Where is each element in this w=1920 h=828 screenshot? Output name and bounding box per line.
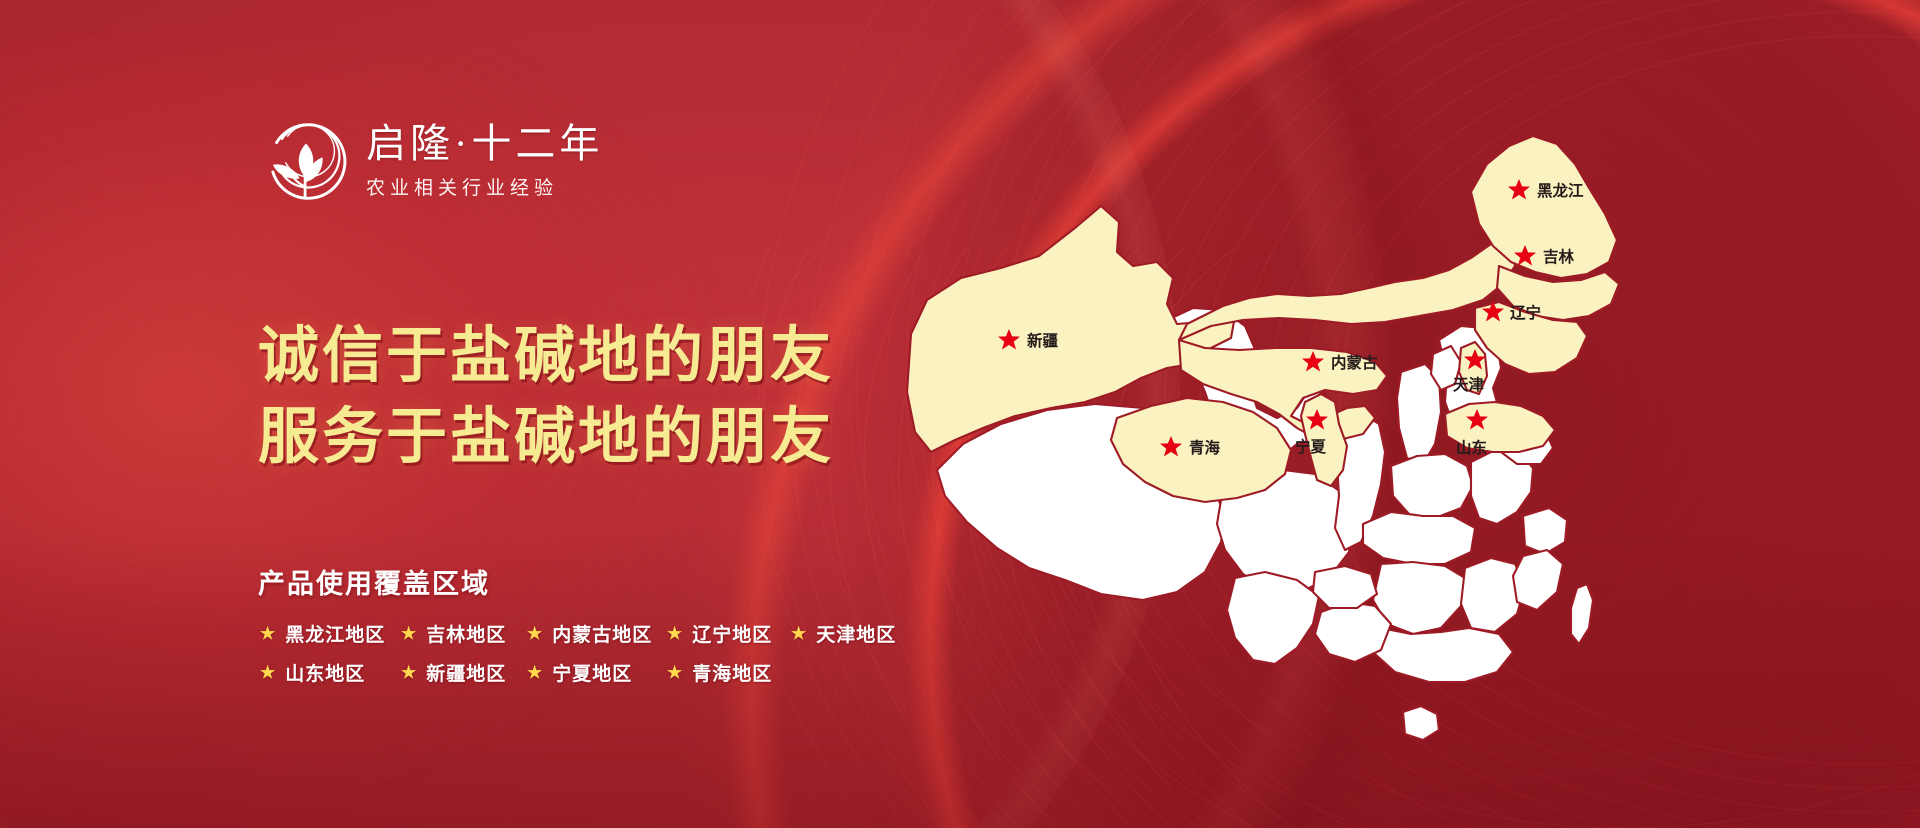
star-icon: ★ [401,664,417,681]
star-icon: ★ [527,625,543,642]
coverage-region-row: ★ 黑龙江地区 ★ 吉林地区 ★ 内蒙古地区 ★ 辽宁地区 ★ 天津地区 [260,620,980,647]
region-item-jilin[interactable]: ★ 吉林地区 [401,620,527,647]
brand-subtitle: 农业相关行业经验 [366,173,603,200]
region-item-tianjin[interactable]: ★ 天津地区 [791,620,911,647]
map-label-qinghai: 青海 [1189,438,1221,457]
map-label-liaoning: 辽宁 [1510,303,1541,322]
coverage-region-row: ★ 山东地区 ★ 新疆地区 ★ 宁夏地区 ★ 青海地区 [260,659,980,686]
region-item-shandong[interactable]: ★ 山东地区 [260,659,401,686]
coverage-region-list: ★ 黑龙江地区 ★ 吉林地区 ★ 内蒙古地区 ★ 辽宁地区 ★ 天津地区 [260,620,980,698]
region-label: 宁夏地区 [552,659,632,686]
star-icon: ★ [260,625,276,642]
headline: 诚信于盐碱地的朋友 服务于盐碱地的朋友 [258,316,834,478]
region-label: 新疆地区 [426,659,506,686]
star-icon: ★ [667,625,683,642]
china-map-svg: 黑龙江 吉林 辽宁 内蒙古 天津 山东 宁夏 新疆 青海 [905,72,1705,772]
map-label-shandong: 山东 [1456,438,1487,457]
region-item-liaoning[interactable]: ★ 辽宁地区 [667,620,791,647]
region-item-ningxia[interactable]: ★ 宁夏地区 [527,659,667,686]
coverage-title: 产品使用覆盖区域 [258,562,490,601]
region-item-qinghai[interactable]: ★ 青海地区 [667,659,791,686]
map-label-ningxia: 宁夏 [1295,437,1327,456]
star-icon: ★ [791,625,807,642]
brand-logo: 启隆·十二年 农业相关行业经验 [260,115,603,207]
map-label-inner-mongolia: 内蒙古 [1331,353,1378,372]
map-label-tianjin: 天津 [1453,376,1485,394]
region-item-heilongjiang[interactable]: ★ 黑龙江地区 [260,620,401,647]
headline-line-1: 诚信于盐碱地的朋友 [258,316,834,397]
star-icon: ★ [667,664,683,681]
region-item-inner-mongolia[interactable]: ★ 内蒙古地区 [527,620,667,647]
region-label: 辽宁地区 [692,620,772,647]
map-label-xinjiang: 新疆 [1027,331,1059,350]
headline-line-2: 服务于盐碱地的朋友 [258,397,834,478]
region-label: 天津地区 [816,620,896,647]
map-label-heilongjiang: 黑龙江 [1537,181,1584,200]
star-icon: ★ [260,664,276,681]
region-label: 黑龙江地区 [285,620,385,647]
star-icon: ★ [401,625,417,642]
brand-title: 启隆·十二年 [366,122,603,167]
promo-banner: 启隆·十二年 农业相关行业经验 诚信于盐碱地的朋友 服务于盐碱地的朋友 产品使用… [0,0,1920,828]
region-label: 吉林地区 [426,620,506,647]
lotus-leaf-logo-icon [260,115,352,207]
region-label: 山东地区 [285,659,365,686]
map-label-jilin: 吉林 [1543,247,1575,266]
region-label: 青海地区 [692,659,772,686]
region-item-xinjiang[interactable]: ★ 新疆地区 [401,659,527,686]
china-map: 黑龙江 吉林 辽宁 内蒙古 天津 山东 宁夏 新疆 青海 [905,72,1705,772]
region-label: 内蒙古地区 [552,620,652,647]
star-icon: ★ [527,664,543,681]
